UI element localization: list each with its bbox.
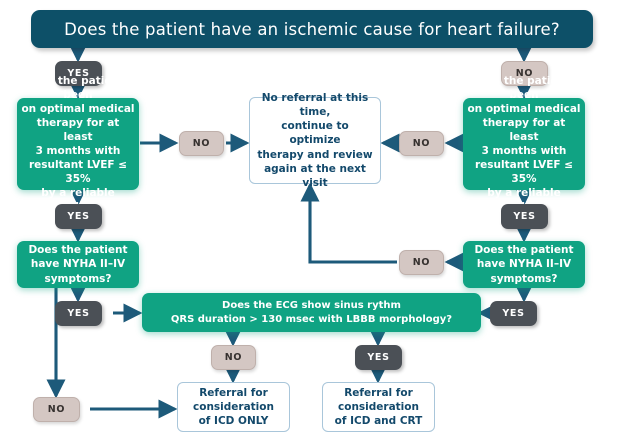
line: 3 months with	[36, 144, 121, 158]
line: have NYHA II–IV	[31, 257, 125, 271]
line: have NYHA II–IV	[477, 257, 571, 271]
pill-label: NO	[413, 257, 430, 268]
box-no-referral[interactable]: No referral at this time, continue to op…	[249, 97, 381, 184]
box-right-nyha[interactable]: Does the patient have NYHA II–IV symptom…	[463, 241, 585, 288]
line: of ICD and CRT	[335, 414, 423, 428]
line: on optimal medical	[21, 102, 134, 116]
header-question: Does the patient have an ischemic cause …	[64, 20, 560, 39]
line: Has the patient been	[21, 74, 135, 102]
line: therapy for at least	[467, 116, 581, 144]
line: 3 months with	[482, 144, 567, 158]
box-right-lvef[interactable]: Has the patient been on optimal medical …	[463, 98, 585, 190]
line: resultant LVEF ≤ 35%	[21, 158, 135, 186]
line: symptoms?	[44, 272, 111, 286]
box-ecg[interactable]: Does the ECG show sinus rythm QRS durati…	[142, 293, 481, 332]
line: Does the patient	[474, 243, 573, 257]
box-referral-icd-only[interactable]: Referral for consideration of ICD ONLY	[177, 382, 290, 432]
pill-no-ecg[interactable]: NO	[211, 345, 256, 370]
line: again at the next visit	[254, 162, 376, 190]
pill-yes-right-nyha[interactable]: YES	[490, 301, 537, 326]
line: Has the patient been	[467, 74, 581, 102]
pill-yes-left-lvef[interactable]: YES	[55, 204, 102, 229]
pill-label: NO	[48, 404, 65, 415]
box-referral-icd-crt[interactable]: Referral for consideration of ICD and CR…	[322, 382, 435, 432]
pill-no-left-nyha[interactable]: NO	[33, 397, 80, 422]
line: of ICD ONLY	[199, 414, 269, 428]
pill-no-left-lvef[interactable]: NO	[179, 131, 224, 156]
line: Does the patient	[28, 243, 127, 257]
line: No referral at this time,	[254, 91, 376, 119]
line: on optimal medical	[467, 102, 580, 116]
line: therapy and review	[257, 148, 372, 162]
pill-label: NO	[413, 138, 430, 149]
flowchart-canvas: Does the patient have an ischemic cause …	[0, 0, 624, 446]
pill-yes-ecg[interactable]: YES	[355, 345, 402, 370]
line: QRS duration > 130 msec with LBBB morpho…	[171, 313, 452, 327]
pill-label: NO	[225, 352, 242, 363]
line: resultant LVEF ≤ 35%	[467, 158, 581, 186]
line: therapy for at least	[21, 116, 135, 144]
pill-yes-left-nyha[interactable]: YES	[55, 301, 102, 326]
line: continue to optimize	[254, 119, 376, 147]
box-left-lvef[interactable]: Has the patient been on optimal medical …	[17, 98, 139, 190]
page-title: Does the patient have an ischemic cause …	[31, 10, 593, 48]
pill-label: YES	[67, 308, 89, 319]
line: consideration	[338, 400, 419, 414]
pill-yes-right-lvef[interactable]: YES	[501, 204, 548, 229]
box-left-nyha[interactable]: Does the patient have NYHA II–IV symptom…	[17, 241, 139, 288]
pill-label: YES	[513, 211, 535, 222]
line: Referral for	[199, 386, 268, 400]
pill-label: YES	[367, 352, 389, 363]
line: Does the ECG show sinus rythm	[222, 299, 401, 313]
pill-label: NO	[193, 138, 210, 149]
pill-no-right-lvef[interactable]: NO	[399, 131, 444, 156]
pill-label: YES	[502, 308, 524, 319]
pill-no-right-nyha[interactable]: NO	[399, 250, 444, 275]
pill-label: YES	[67, 211, 89, 222]
line: symptoms?	[490, 272, 557, 286]
line: Referral for	[344, 386, 413, 400]
line: consideration	[193, 400, 274, 414]
